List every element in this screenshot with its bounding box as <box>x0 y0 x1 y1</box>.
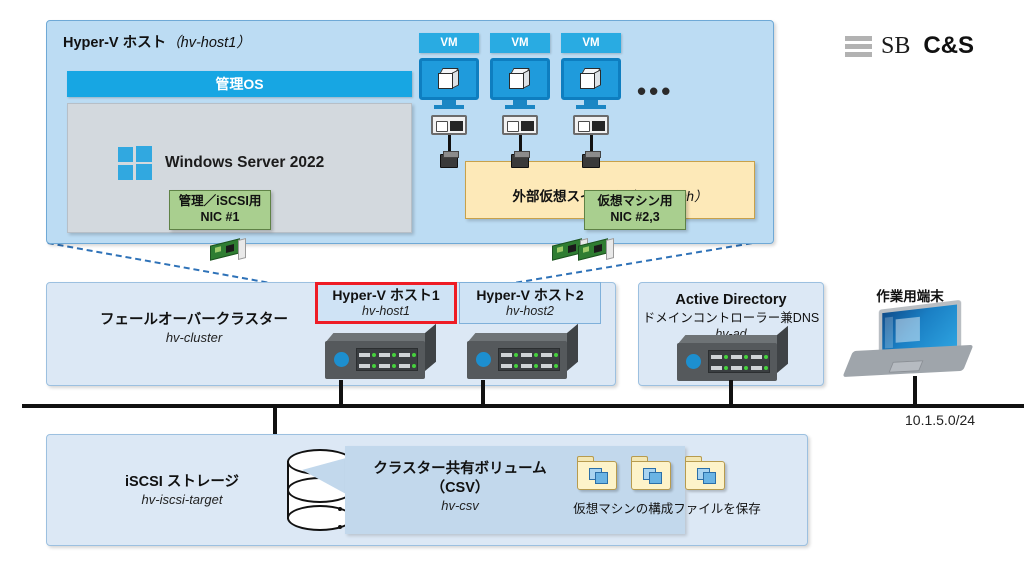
nic-callout-vm: 仮想マシン用 NIC #2,3 <box>584 190 686 230</box>
network-bus-line <box>22 404 1024 408</box>
storage-label: iSCSI ストレージ hv-iscsi-target <box>87 473 277 509</box>
vm-stack-3: VM <box>561 33 621 108</box>
cluster-id: hv-cluster <box>79 330 309 347</box>
vm-stack-2: VM <box>490 33 550 108</box>
hyperv-host-panel: Hyper-V ホスト（hv-host1） 管理OS Windows Serve… <box>46 20 774 244</box>
rj45-connector-1 <box>440 154 458 168</box>
vm-cube-monitor-icon <box>561 58 621 108</box>
host1-id: hv-host1 <box>362 304 410 319</box>
physical-nic-card-1 <box>210 238 250 260</box>
host2-id: hv-host2 <box>506 304 554 319</box>
server-icon-host1 <box>325 333 437 379</box>
vm-cube-monitor-icon <box>419 58 479 108</box>
csv-id: hv-csv <box>355 498 565 515</box>
vm-cube-monitor-icon <box>490 58 550 108</box>
server-icon-ad <box>677 335 789 381</box>
subnet-label: 10.1.5.0/24 <box>905 412 975 428</box>
logo-sb-text: SB <box>881 33 910 60</box>
management-os-bar: 管理OS <box>67 71 412 97</box>
vm-tag-1: VM <box>419 33 479 53</box>
storage-name: iSCSI ストレージ <box>87 473 277 492</box>
rj45-connector-2 <box>511 154 529 168</box>
active-directory-panel: Active Directory ドメインコントローラー兼DNS hv-ad <box>638 282 824 386</box>
rj45-connector-3 <box>582 154 600 168</box>
host-title-id: （hv-host1） <box>166 35 251 51</box>
windows-flag-icon <box>118 146 152 180</box>
drop-ad <box>729 380 733 406</box>
vm-overflow-dots: ••• <box>637 76 673 107</box>
vm-config-folder-icon-2 <box>631 456 671 490</box>
laptop-icon <box>853 305 973 377</box>
csv-label: クラスター共有ボリューム （CSV） hv-csv <box>355 460 565 515</box>
host-panel-title: Hyper-V ホスト（hv-host1） <box>63 31 251 52</box>
windows-server-label: Windows Server 2022 <box>165 154 324 172</box>
vm-tag-2: VM <box>490 33 550 53</box>
drop-host2 <box>481 380 485 406</box>
nic-mgmt-line1: 管理／iSCSI用 <box>179 194 262 210</box>
hamburger-bars-icon <box>845 36 872 57</box>
sbcs-logo: SB C&S <box>845 32 974 60</box>
management-os-label: 管理OS <box>215 74 263 94</box>
vm-nic-icon-3 <box>573 115 609 135</box>
cluster-name: フェールオーバークラスター <box>79 311 309 330</box>
windows-server-row: Windows Server 2022 <box>118 146 324 180</box>
vm-tag-3: VM <box>561 33 621 53</box>
ad-title: Active Directory <box>639 291 823 310</box>
nic-vm-line2: NIC #2,3 <box>610 210 659 226</box>
ad-label: Active Directory ドメインコントローラー兼DNS hv-ad <box>639 291 823 342</box>
host-title-main: Hyper-V ホスト <box>63 35 166 51</box>
vm-config-folder-icon-1 <box>577 456 617 490</box>
csv-callout-box: クラスター共有ボリューム （CSV） hv-csv 仮想マシンの構成ファイルを保… <box>345 446 685 534</box>
logo-cs-text: C&S <box>923 32 974 60</box>
ad-role: ドメインコントローラー兼DNS <box>639 310 823 326</box>
diagram-canvas: SB C&S Hyper-V ホスト（hv-host1） 管理OS Window… <box>0 0 1024 576</box>
host2-title: Hyper-V ホスト2 <box>476 287 583 304</box>
vm-nic-icon-1 <box>431 115 467 135</box>
csv-name-line2: （CSV） <box>355 479 565 498</box>
failover-cluster-panel: フェールオーバークラスター hv-cluster Hyper-V ホスト1 hv… <box>46 282 616 386</box>
physical-nic-card-3 <box>578 238 618 260</box>
drop-workstation <box>913 376 917 406</box>
workstation-group: 作業用端末 <box>845 285 975 380</box>
csv-folder-caption: 仮想マシンの構成ファイルを保存 <box>567 498 767 517</box>
csv-name-line1: クラスター共有ボリューム <box>355 460 565 479</box>
host1-title: Hyper-V ホスト1 <box>332 287 439 304</box>
nic-mgmt-line2: NIC #1 <box>201 210 240 226</box>
nic-callout-management: 管理／iSCSI用 NIC #1 <box>169 190 271 230</box>
storage-id: hv-iscsi-target <box>87 492 277 509</box>
drop-host1 <box>339 380 343 406</box>
server-icon-host2 <box>467 333 579 379</box>
cluster-host-box-1[interactable]: Hyper-V ホスト1 hv-host1 <box>315 282 457 324</box>
cluster-host-box-2[interactable]: Hyper-V ホスト2 hv-host2 <box>459 282 601 324</box>
vm-stack-1: VM <box>419 33 479 108</box>
nic-vm-line1: 仮想マシン用 <box>597 194 672 210</box>
csv-callout-pointer <box>302 458 346 494</box>
vm-config-folder-icon-3 <box>685 456 725 490</box>
cluster-label: フェールオーバークラスター hv-cluster <box>79 311 309 347</box>
vm-nic-icon-2 <box>502 115 538 135</box>
